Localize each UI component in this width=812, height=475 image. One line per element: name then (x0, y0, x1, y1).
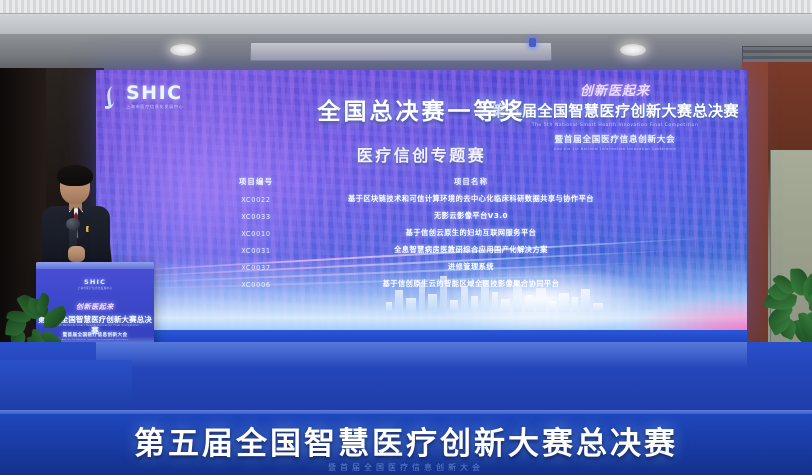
cell-project-name: 基于区块链技术和可信计算环境的去中心化临床科研数据共享与协作平台 (304, 194, 638, 204)
table-body: XC0022基于区块链技术和可信计算环境的去中心化临床科研数据共享与协作平台XC… (208, 191, 638, 293)
award-subtitle: 医疗信创专题赛 (96, 142, 747, 166)
cell-project-name: 全息智慧病房医教研综合应用国产化解决方案 (304, 245, 638, 255)
cell-project-name: 基于信创云原生的妇幼互联网服务平台 (304, 228, 638, 238)
table-row: XC0037进修管理系统 (208, 259, 638, 276)
stage-banner-subtitle: 暨首届全国医疗信息创新大会 (0, 462, 812, 473)
downlight-icon (620, 44, 646, 56)
table-row: XC0033无影云影像平台V3.0 (208, 208, 638, 225)
led-pink-accent (627, 296, 747, 332)
cell-project-name: 无影云影像平台V3.0 (304, 211, 638, 221)
ceiling-sensor-icon (529, 38, 536, 47)
ceiling (0, 0, 812, 34)
cell-project-code: XC0022 (208, 196, 304, 204)
speaker-person (44, 168, 108, 276)
cell-project-name: 进修管理系统 (304, 262, 638, 272)
led-screen: SHIC 上海市医疗信息化发展中心 创新医起来 第五届全国智慧医疗创新大赛总决赛… (96, 70, 747, 342)
podium-top-surface (36, 262, 154, 269)
award-heading-group: 全国总决赛一等奖 医疗信创专题赛 (96, 92, 747, 166)
cell-project-code: XC0033 (208, 213, 304, 221)
ceiling-strip (0, 0, 812, 14)
table-header-row: 项目编号 项目名称 (208, 176, 638, 191)
column-header-code: 项目编号 (208, 176, 304, 187)
cell-project-code: XC0031 (208, 247, 304, 255)
cell-project-code: XC0010 (208, 230, 304, 238)
speaker-hands (68, 246, 85, 262)
cell-project-name: 基于信创原生云的智能区域全医技影像聚合协同平台 (304, 279, 638, 289)
cell-project-code: XC0037 (208, 264, 304, 272)
podium-shic-logo: SHIC (36, 278, 154, 286)
led-base-bar (96, 330, 747, 342)
venue-photo: SHIC 上海市医疗信息化发展中心 创新医起来 第五届全国智慧医疗创新大赛总决赛… (0, 0, 812, 475)
stage-floor-sheen (96, 342, 747, 368)
speaker-hair (57, 165, 93, 186)
cell-project-code: XC0006 (208, 281, 304, 289)
table-row: XC0022基于区块链技术和可信计算环境的去中心化临床科研数据共享与协作平台 (208, 191, 638, 208)
stage-banner-title: 第五届全国智慧医疗创新大赛总决赛 (0, 418, 812, 463)
table-row: XC0006基于信创原生云的智能区域全医技影像聚合协同平台 (208, 276, 638, 293)
column-header-name: 项目名称 (304, 176, 638, 187)
microphone-head-icon (66, 218, 80, 230)
ceiling-panel (250, 42, 552, 61)
award-title: 全国总决赛一等奖 (96, 92, 747, 126)
stage-table (0, 360, 132, 414)
winners-table: 项目编号 项目名称 XC0022基于区块链技术和可信计算环境的去中心化临床科研数… (208, 176, 638, 293)
table-row: XC0031全息智慧病房医教研综合应用国产化解决方案 (208, 242, 638, 259)
table-row: XC0010基于信创云原生的妇幼互联网服务平台 (208, 225, 638, 242)
downlight-icon (170, 44, 196, 56)
podium-shic-subtitle: 上海市医疗信息化发展中心 (36, 286, 154, 290)
